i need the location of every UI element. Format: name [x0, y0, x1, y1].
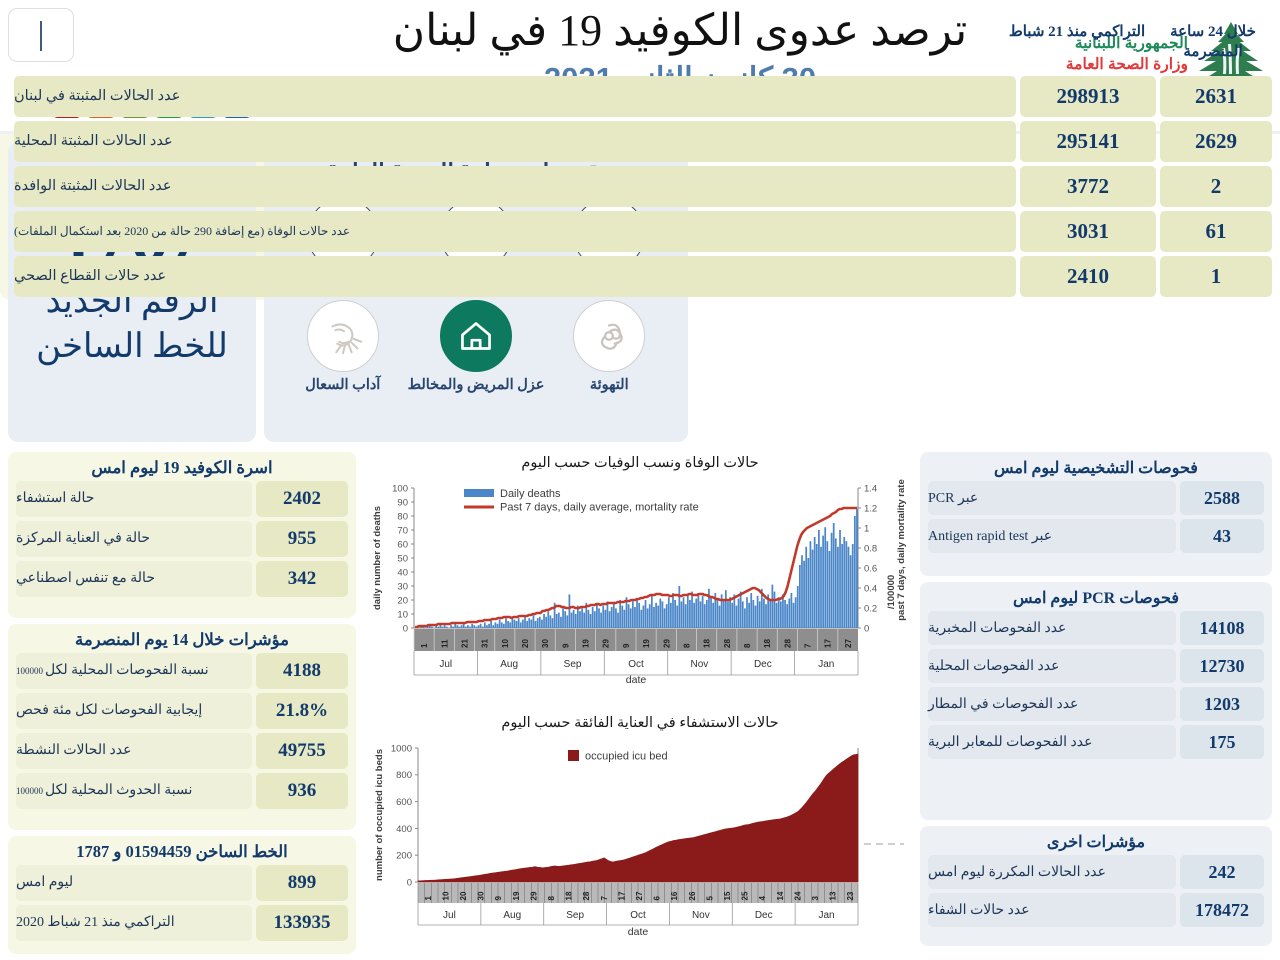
row-value: 21.8%	[256, 693, 348, 729]
row-label-suffix: 100000	[16, 666, 43, 677]
chart-text: 20	[459, 891, 468, 900]
list-row: 12730عدد الفحوصات المحلية	[928, 649, 1264, 683]
row-value: 899	[256, 865, 348, 901]
list-row: 242عدد الحالات المكررة ليوم امس	[928, 855, 1264, 889]
row-value: 12730	[1180, 649, 1264, 683]
chart-text: 1	[420, 643, 429, 648]
stats-row: 613031عدد حالات الوفاة (مع إضافة 290 حال…	[10, 211, 1272, 252]
chart-text: 40	[397, 567, 408, 578]
recommendation-label: آداب السعال	[278, 377, 408, 394]
covid-beds-rows: 2402حالة استشفاء955حالة في العناية المرك…	[8, 481, 356, 597]
chart-text: 21	[460, 639, 469, 648]
chart-text: 9	[622, 643, 631, 648]
stats-cell-cumulative: 3772	[1020, 166, 1156, 207]
row-label: عدد الفحوصات المخبرية	[928, 611, 1176, 645]
chart-text: Jan	[819, 910, 835, 921]
list-row: 21.8%إيجابية الفحوصات لكل مئة فحص	[16, 693, 348, 729]
stats-cell-24h: 2	[1160, 166, 1272, 207]
chart-text: 14	[776, 891, 785, 900]
hotline-calls-title: الخط الساخن 01594459 و 1787	[8, 836, 356, 865]
chart-text: 0	[864, 623, 869, 634]
chart-text: 25	[741, 891, 750, 900]
chart-text: 27	[844, 639, 853, 648]
chart-text: Aug	[500, 659, 518, 670]
row-value: 342	[256, 561, 348, 597]
list-row: 955حالة في العناية المركزة	[16, 521, 348, 557]
row-value: 2588	[1180, 481, 1264, 515]
recommendation-item-6[interactable]: آداب السعال	[278, 300, 408, 394]
other-indicators-title: مؤشرات اخرى	[920, 826, 1272, 855]
recommendation-label: عزل المريض والمخالط	[408, 377, 545, 394]
other-indicators-rows: 242عدد الحالات المكررة ليوم امس178472عدد…	[920, 855, 1272, 927]
icu-chart-container: حالات الاستشفاء في العناية الفائقة حسب ا…	[366, 712, 914, 958]
stats-cell-label: عدد الحالات المثبتة في لبنان	[14, 76, 1016, 117]
chart-text: Aug	[503, 910, 521, 921]
chart-text: Nov	[691, 659, 709, 670]
list-row: 43عبر Antigen rapid test	[928, 519, 1264, 553]
row-label: نسبة الحدوث المحلية لكل 100000	[16, 773, 252, 809]
chart-text: 8	[743, 643, 752, 648]
list-row: 2402حالة استشفاء	[16, 481, 348, 517]
chart-text: 70	[397, 525, 408, 536]
chart-text: 9	[494, 896, 503, 901]
stats-cell-24h: 2629	[1160, 121, 1272, 162]
chart-text: 10	[441, 891, 450, 900]
row-label: عدد الفحوصات في المطار	[928, 687, 1176, 721]
chart-text: Oct	[630, 910, 646, 921]
chart-text: 30	[397, 581, 408, 592]
stats-row: 12410عدد حالات القطاع الصحي	[10, 256, 1272, 297]
pcr-tests-rows: 14108عدد الفحوصات المخبرية12730عدد الفحو…	[920, 611, 1272, 759]
stats-col-header-24h: خلال 24 ساعة المنصرمة	[1154, 22, 1272, 63]
chart-text: Nov	[692, 910, 710, 921]
chart-text: 26	[688, 891, 697, 900]
recommendation-label: التهوئة	[544, 377, 674, 394]
chart-text: past 7 days, daily mortality rate	[896, 479, 907, 621]
chart-text: 1.2	[864, 503, 877, 514]
stats-row: 23772عدد الحالات المثبتة الوافدة	[10, 166, 1272, 207]
row-label: عدد الحالات المكررة ليوم امس	[928, 855, 1176, 889]
chart-text: 4	[758, 896, 767, 901]
chart-text: date	[628, 926, 649, 938]
list-row: 178472عدد حالات الشفاء	[928, 893, 1264, 927]
row-value: 955	[256, 521, 348, 557]
chart-text: /100000	[886, 575, 897, 609]
chart-text: 0.6	[864, 563, 877, 574]
row-label: إيجابية الفحوصات لكل مئة فحص	[16, 693, 252, 729]
chart-text: 28	[783, 639, 792, 648]
chart-text: 0.4	[864, 583, 877, 594]
covid-beds-title: اسرة الكوفيد 19 ليوم امس	[8, 452, 356, 481]
recommendation-item-4[interactable]: التهوئة	[544, 300, 674, 394]
chart-text: 19	[512, 891, 521, 900]
row-label: نسبة الفحوصات المحلية لكل 100000	[16, 653, 252, 689]
row-label: عدد حالات الشفاء	[928, 893, 1176, 927]
row-label: عدد الفحوصات المحلية	[928, 649, 1176, 683]
chart-text: 600	[396, 797, 412, 808]
pcr-tests-panel: فحوصات PCR ليوم امس 14108عدد الفحوصات ال…	[920, 582, 1272, 820]
chart-text: 16	[670, 891, 679, 900]
home-isolation-icon	[440, 300, 512, 372]
stats-cell-label: عدد الحالات المثبتة المحلية	[14, 121, 1016, 162]
indicators-14day-title: مؤشرات خلال 14 يوم المنصرمة	[8, 624, 356, 653]
row-value: 49755	[256, 733, 348, 769]
stats-cell-label: عدد الحالات المثبتة الوافدة	[14, 166, 1016, 207]
deaths-chart-title: حالات الوفاة ونسب الوفيات حسب اليوم	[366, 452, 914, 474]
main-stats-panel: خلال 24 ساعة المنصرمة التراكمي منذ 21 شب…	[0, 0, 578, 300]
chart-text: 200	[396, 851, 412, 862]
other-indicators-panel: مؤشرات اخرى 242عدد الحالات المكررة ليوم …	[920, 826, 1272, 946]
diagnostic-tests-rows: 2588عبر PCR43عبر Antigen rapid test	[920, 481, 1272, 553]
chart-text: 1000	[391, 743, 412, 754]
chart-text: 10	[397, 609, 408, 620]
row-label: عدد الفحوصات للمعابر البرية	[928, 725, 1176, 759]
list-row: 899ليوم امس	[16, 865, 348, 901]
chart-text: 800	[396, 770, 412, 781]
chart-text: Jan	[818, 659, 834, 670]
chart-text: Past 7 days, daily average, mortality ra…	[500, 502, 699, 514]
list-row: 342حالة مع تنفس اصطناعي	[16, 561, 348, 597]
list-row: 133935التراكمي منذ 21 شباط 2020	[16, 905, 348, 941]
chart-text: 7	[600, 896, 609, 901]
chart-text: Jul	[443, 910, 456, 921]
list-row: 14108عدد الفحوصات المخبرية	[928, 611, 1264, 645]
row-label: عدد الحالات النشطة	[16, 733, 252, 769]
chart-text: 60	[397, 539, 408, 550]
pcr-tests-title: فحوصات PCR ليوم امس	[920, 582, 1272, 611]
list-row: 936نسبة الحدوث المحلية لكل 100000	[16, 773, 348, 809]
chart-text: 24	[793, 891, 802, 900]
chart-text: 18	[703, 639, 712, 648]
stats-table-header: خلال 24 ساعة المنصرمة التراكمي منذ 21 شب…	[0, 12, 1280, 74]
row-value: 2402	[256, 481, 348, 517]
stats-cell-24h: 61	[1160, 211, 1272, 252]
chart-text: 28	[582, 891, 591, 900]
deaths-chart: 010203040506070809010000.20.40.60.811.21…	[366, 474, 914, 702]
row-value: 242	[1180, 855, 1264, 889]
row-label: عبر PCR	[928, 481, 1176, 515]
list-row: 1203عدد الفحوصات في المطار	[928, 687, 1264, 721]
row-value: 178472	[1180, 893, 1264, 927]
chart-text: number of occupied icu beds	[374, 749, 385, 881]
row-label: حالة في العناية المركزة	[16, 521, 252, 557]
indicators-14day-rows: 4188نسبة الفحوصات المحلية لكل 10000021.8…	[8, 653, 356, 809]
row-value: 4188	[256, 653, 348, 689]
row-label: التراكمي منذ 21 شباط 2020	[16, 905, 252, 941]
stats-cell-cumulative: 3031	[1020, 211, 1156, 252]
stats-cell-cumulative: 2410	[1020, 256, 1156, 297]
chart-text: 0	[407, 877, 412, 888]
chart-text: 27	[635, 891, 644, 900]
dashboard-page: ✺✺✺✺✺✺ ترصد عدوى الكوفيد 19 في لبنان 30 …	[0, 0, 1280, 960]
diagnostic-tests-title: فحوصات التشخيصية ليوم امس	[920, 452, 1272, 481]
row-value: 133935	[256, 905, 348, 941]
row-value: 14108	[1180, 611, 1264, 645]
row-value: 175	[1180, 725, 1264, 759]
chart-text: 1	[424, 896, 433, 901]
stats-row: 2631298913عدد الحالات المثبتة في لبنان	[10, 76, 1272, 117]
chart-text: 20	[397, 595, 408, 606]
chart-text: 8	[547, 896, 556, 901]
chart-text: 5	[705, 896, 714, 901]
chart-text: 8	[682, 643, 691, 648]
row-label: حالة مع تنفس اصطناعي	[16, 561, 252, 597]
chart-text: 1	[864, 523, 869, 534]
chart-text: 29	[602, 639, 611, 648]
chart-text: 29	[662, 639, 671, 648]
diagnostic-tests-panel: فحوصات التشخيصية ليوم امس 2588عبر PCR43ع…	[920, 452, 1272, 576]
stats-col-header-cumulative: التراكمي منذ 21 شباط	[1006, 22, 1148, 42]
chart-text: 19	[642, 639, 651, 648]
chart-text: Oct	[628, 659, 644, 670]
chart-text: 7	[804, 643, 813, 648]
chart-text: Sep	[564, 659, 582, 670]
chart-text: Jul	[439, 659, 452, 670]
chart-text: 30	[541, 639, 550, 648]
chart-text: 11	[440, 639, 449, 648]
covid-beds-panel: اسرة الكوفيد 19 ليوم امس 2402حالة استشفا…	[8, 452, 356, 618]
stats-row: 2629295141عدد الحالات المثبتة المحلية	[10, 121, 1272, 162]
recommendation-item-5[interactable]: عزل المريض والمخالط	[408, 300, 545, 394]
chart-text: 3	[811, 896, 820, 901]
chart-text: 80	[397, 511, 408, 522]
chart-text: 1.4	[864, 483, 877, 494]
list-row: 4188نسبة الفحوصات المحلية لكل 100000	[16, 653, 348, 689]
chart-text: 90	[397, 497, 408, 508]
chart-text: 100	[392, 483, 408, 494]
chart-text: 50	[397, 553, 408, 564]
chart-text: Daily deaths	[500, 488, 561, 500]
list-row: 49755عدد الحالات النشطة	[16, 733, 348, 769]
chart-text: 19	[582, 639, 591, 648]
chart-text: 6	[653, 896, 662, 901]
row-value: 1203	[1180, 687, 1264, 721]
chart-text: occupied icu bed	[585, 751, 668, 763]
icu-chart: 02004006008001000number of occupied icu …	[366, 734, 914, 958]
hotline-caption-line2: للخط الساخن	[8, 325, 256, 370]
chart-text: 20	[521, 639, 530, 648]
chart-text: 23	[846, 891, 855, 900]
chart-text: 0	[403, 623, 408, 634]
icu-chart-title: حالات الاستشفاء في العناية الفائقة حسب ا…	[366, 712, 914, 734]
chart-text: Dec	[754, 659, 772, 670]
stats-cell-24h: 1	[1160, 256, 1272, 297]
hotline-calls-panel: الخط الساخن 01594459 و 1787 899ليوم امس1…	[8, 836, 356, 954]
row-value: 43	[1180, 519, 1264, 553]
stats-cell-label: عدد حالات الوفاة (مع إضافة 290 حالة من 2…	[14, 211, 1016, 252]
row-label: عبر Antigen rapid test	[928, 519, 1176, 553]
stats-cell-cumulative: 295141	[1020, 121, 1156, 162]
chart-text: 28	[723, 639, 732, 648]
stats-cell-label: عدد حالات القطاع الصحي	[14, 256, 1016, 297]
list-row: 175عدد الفحوصات للمعابر البرية	[928, 725, 1264, 759]
chart-text: 31	[481, 639, 490, 648]
chart-text: 13	[829, 891, 838, 900]
row-label: حالة استشفاء	[16, 481, 252, 517]
chart-text: 18	[565, 891, 574, 900]
chart-text: 18	[763, 639, 772, 648]
chart-text: Dec	[755, 910, 773, 921]
indicators-14day-panel: مؤشرات خلال 14 يوم المنصرمة 4188نسبة الف…	[8, 624, 356, 830]
hotline-calls-rows: 899ليوم امس133935التراكمي منذ 21 شباط 20…	[8, 865, 356, 941]
chart-text: Sep	[566, 910, 584, 921]
chart-text: date	[626, 674, 647, 686]
cough-etiquette-icon	[307, 300, 379, 372]
row-label: ليوم امس	[16, 865, 252, 901]
chart-text: daily number of deaths	[372, 506, 383, 610]
row-value: 936	[256, 773, 348, 809]
chart-text: 0.8	[864, 543, 877, 554]
row-label-suffix: 100000	[16, 786, 43, 797]
stats-cell-24h: 2631	[1160, 76, 1272, 117]
chart-text: 17	[617, 891, 626, 900]
chart-text: 17	[824, 639, 833, 648]
chart-text: 15	[723, 891, 732, 900]
ventilation-icon	[573, 300, 645, 372]
chart-text: 30	[477, 891, 486, 900]
stats-table-rows: 2631298913عدد الحالات المثبتة في لبنان26…	[10, 76, 1272, 301]
chart-text: 29	[529, 891, 538, 900]
chart-text: 9	[561, 643, 570, 648]
list-row: 2588عبر PCR	[928, 481, 1264, 515]
chart-text: 0.2	[864, 603, 877, 614]
deaths-chart-container: حالات الوفاة ونسب الوفيات حسب اليوم 0102…	[366, 452, 914, 702]
chart-text: 10	[501, 639, 510, 648]
chart-text: 400	[396, 824, 412, 835]
stats-cell-cumulative: 298913	[1020, 76, 1156, 117]
